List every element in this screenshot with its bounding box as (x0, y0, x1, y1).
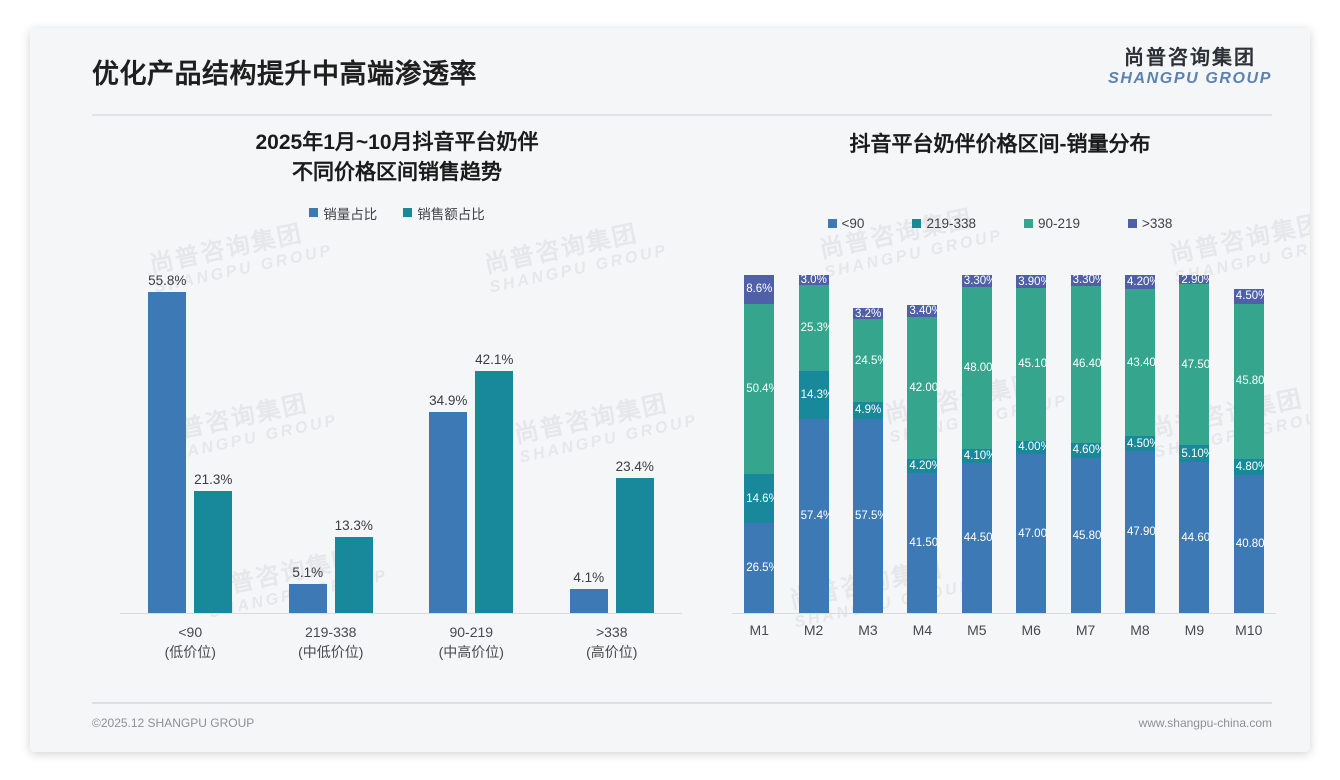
bar-group: 55.8%21.3% (120, 268, 261, 613)
category-name: >338 (537, 622, 687, 642)
footer-copyright: ©2025.12 SHANGPU GROUP (92, 716, 254, 730)
segment-value-label: 43.40% (1127, 357, 1155, 369)
bar-group: 4.1%23.4% (542, 268, 683, 613)
stacked-bar-column: 41.50%4.20%42.00%3.40% (907, 268, 937, 613)
stacked-bar-segment[interactable]: 44.50% (962, 463, 992, 613)
legend-item-volume-distribution[interactable]: 90-219 (1024, 216, 1080, 231)
stacked-bar-segment[interactable]: 44.60% (1179, 462, 1209, 613)
category-name: 90-219 (396, 622, 546, 642)
legend-swatch-icon (403, 208, 412, 217)
legend-label: >338 (1142, 216, 1172, 231)
segment-value-label: 45.80% (1236, 375, 1264, 387)
segment-value-label: 45.80% (1073, 530, 1101, 542)
stacked-bar-column: 57.5%4.9%24.5%3.2% (853, 268, 883, 613)
segment-value-label: 3.2% (855, 308, 881, 319)
stacked-bar-segment[interactable]: 14.6% (744, 474, 774, 523)
segment-value-label: 4.60% (1073, 444, 1101, 456)
bar-value-label: 42.1% (475, 352, 513, 367)
stacked-bar-segment[interactable]: 50.4% (744, 304, 774, 474)
stacked-bar-column: 40.80%4.80%45.80%4.50% (1234, 268, 1264, 613)
brand-logo: 尚普咨询集团 SHANGPU GROUP (1108, 48, 1272, 88)
legend-item-volume-distribution[interactable]: >338 (1128, 216, 1172, 231)
bar-value-label: 5.1% (292, 565, 323, 580)
bar-value-label: 4.1% (573, 570, 604, 585)
stacked-bar-segment[interactable]: 8.6% (744, 275, 774, 304)
category-sublabel: (高价位) (537, 642, 687, 662)
bar-rect[interactable] (194, 491, 232, 613)
segment-value-label: 4.20% (1127, 276, 1155, 288)
stacked-bar-segment[interactable]: 3.30% (1071, 275, 1101, 286)
chart-title-line-1: 2025年1月~10月抖音平台奶伴 (92, 128, 702, 158)
chart-legend-volume-distribution: <90219-33890-219>338 (720, 216, 1280, 231)
stacked-bar-segment[interactable]: 4.20% (907, 459, 937, 473)
brand-logo-cn: 尚普咨询集团 (1108, 48, 1272, 69)
segment-value-label: 47.00% (1018, 528, 1046, 540)
bar-rect[interactable] (148, 292, 186, 613)
chart-plot-area-sales-trend: 55.8%21.3%5.1%13.3%34.9%42.1%4.1%23.4% (120, 268, 682, 613)
slide-canvas: 尚普咨询集团 SHANGPU GROUP 尚普咨询集团 SHANGPU GROU… (30, 28, 1310, 752)
segment-value-label: 57.4% (801, 510, 829, 522)
segment-value-label: 47.90% (1127, 526, 1155, 538)
segment-value-label: 4.9% (855, 404, 881, 416)
footer-divider (92, 702, 1272, 704)
stacked-bar-column: 57.4%14.3%25.3%3.0% (799, 268, 829, 613)
stacked-bar-segment[interactable]: 24.5% (853, 319, 883, 402)
legend-swatch-icon (1128, 219, 1137, 228)
bar-rect[interactable] (429, 412, 467, 613)
legend-item-volume-distribution[interactable]: <90 (828, 216, 865, 231)
stacked-bar-segment[interactable]: 3.0% (799, 275, 829, 285)
stacked-bar-column: 47.00%4.00%45.10%3.90% (1016, 268, 1046, 613)
stacked-bar-segment[interactable]: 48.00% (962, 287, 992, 449)
bar-rect[interactable] (570, 589, 608, 613)
stacked-bar-segment[interactable]: 45.80% (1071, 458, 1101, 613)
chart-panel-volume-distribution: 抖音平台奶伴价格区间-销量分布 <90219-33890-219>338 26.… (720, 128, 1280, 688)
x-axis-month-label: M7 (1058, 622, 1114, 638)
legend-label: 销量占比 (323, 203, 377, 223)
header-divider (92, 114, 1272, 116)
category-name: <90 (115, 622, 265, 642)
stacked-bar-segment[interactable]: 3.2% (853, 308, 883, 319)
legend-item-volume-distribution[interactable]: 219-338 (912, 216, 976, 231)
chart-x-axis-line (120, 613, 682, 614)
segment-value-label: 8.6% (746, 283, 772, 295)
stacked-bar-segment[interactable]: 45.80% (1234, 304, 1264, 459)
segment-value-label: 3.40% (909, 305, 937, 316)
segment-value-label: 41.50% (909, 537, 937, 549)
category-name: 219-338 (256, 622, 406, 642)
segment-value-label: 4.80% (1236, 461, 1264, 473)
x-axis-month-label: M9 (1166, 622, 1222, 638)
stacked-bar-segment[interactable]: 3.30% (962, 275, 992, 286)
chart-legend-sales-trend: 销量占比销售额占比 (92, 203, 702, 223)
stacked-bar-column: 44.50%4.10%48.00%3.30% (962, 268, 992, 613)
bar-value-label: 13.3% (335, 518, 373, 533)
segment-value-label: 4.20% (909, 460, 937, 472)
bar-value-label: 21.3% (194, 472, 232, 487)
stacked-bar-segment[interactable]: 40.80% (1234, 475, 1264, 613)
stacked-bar-column: 26.5%14.6%50.4%8.6% (744, 268, 774, 613)
stacked-bar-segment[interactable]: 57.5% (853, 419, 883, 613)
stacked-bar-segment[interactable]: 43.40% (1125, 289, 1155, 436)
segment-value-label: 3.30% (964, 275, 992, 286)
bar-group: 5.1%13.3% (261, 268, 402, 613)
category-sublabel: (中高价位) (396, 642, 546, 662)
stacked-bar-segment[interactable]: 47.90% (1125, 451, 1155, 613)
stacked-bar-segment[interactable]: 5.10% (1179, 445, 1209, 462)
x-axis-month-label: M10 (1221, 622, 1277, 638)
segment-value-label: 46.40% (1073, 358, 1101, 370)
bar-value-label: 23.4% (616, 459, 654, 474)
x-axis-category-label: <90(低价位) (115, 622, 265, 663)
segment-value-label: 4.10% (964, 450, 992, 462)
segment-value-label: 48.00% (964, 362, 992, 374)
stacked-bar-segment[interactable]: 3.90% (1016, 275, 1046, 288)
stacked-bar-segment[interactable]: 42.00% (907, 317, 937, 459)
segment-value-label: 45.10% (1018, 358, 1046, 370)
stacked-bar-segment[interactable]: 46.40% (1071, 286, 1101, 443)
bar-value-label: 55.8% (148, 273, 186, 288)
category-sublabel: (低价位) (115, 642, 265, 662)
segment-value-label: 3.30% (1073, 275, 1101, 286)
segment-value-label: 5.10% (1181, 448, 1209, 460)
segment-value-label: 4.50% (1236, 290, 1264, 302)
stacked-bar-segment[interactable]: 4.00% (1016, 441, 1046, 455)
segment-value-label: 47.50% (1181, 359, 1209, 371)
legend-label: 销售额占比 (417, 203, 485, 223)
segment-value-label: 44.60% (1181, 532, 1209, 544)
bar-rect[interactable] (616, 478, 654, 613)
stacked-bar-column: 45.80%4.60%46.40%3.30% (1071, 268, 1101, 613)
stacked-bar-segment[interactable]: 45.10% (1016, 288, 1046, 440)
x-axis-month-label: M4 (894, 622, 950, 638)
x-axis-month-label: M2 (786, 622, 842, 638)
chart-title-line-2: 不同价格区间销售趋势 (92, 158, 702, 188)
stacked-bar-segment[interactable]: 4.80% (1234, 459, 1264, 475)
x-axis-category-label: 90-219(中高价位) (396, 622, 546, 663)
legend-item-sales-trend[interactable]: 销售额占比 (403, 203, 485, 223)
segment-value-label: 3.90% (1018, 276, 1046, 288)
x-axis-month-label: M8 (1112, 622, 1168, 638)
segment-value-label: 25.3% (801, 322, 829, 334)
segment-value-label: 24.5% (855, 355, 883, 367)
segment-value-label: 57.5% (855, 510, 883, 522)
bar-rect[interactable] (289, 584, 327, 613)
category-sublabel: (中低价位) (256, 642, 406, 662)
stacked-bar-segment[interactable]: 4.10% (962, 449, 992, 463)
segment-value-label: 26.5% (746, 562, 774, 574)
segment-value-label: 4.00% (1018, 441, 1046, 453)
brand-logo-en: SHANGPU GROUP (1108, 71, 1272, 88)
stacked-bar-column: 44.60%5.10%47.50%2.90% (1179, 268, 1209, 613)
stacked-bar-segment[interactable]: 4.20% (1125, 275, 1155, 289)
chart-panel-sales-trend: 2025年1月~10月抖音平台奶伴 不同价格区间销售趋势 销量占比销售额占比 5… (92, 128, 702, 688)
x-axis-month-label: M6 (1003, 622, 1059, 638)
footer-website: www.shangpu-china.com (1139, 716, 1272, 730)
segment-value-label: 2.90% (1181, 275, 1209, 285)
stacked-bar-segment[interactable]: 4.50% (1125, 436, 1155, 451)
x-axis-category-label: >338(高价位) (537, 622, 687, 663)
segment-value-label: 14.6% (746, 493, 774, 505)
stacked-bar-segment[interactable]: 4.50% (1234, 289, 1264, 304)
chart-title-sales-trend: 2025年1月~10月抖音平台奶伴 不同价格区间销售趋势 (92, 128, 702, 189)
bar-group: 34.9%42.1% (401, 268, 542, 613)
chart-title-volume-distribution: 抖音平台奶伴价格区间-销量分布 (720, 128, 1280, 160)
stacked-bar-segment[interactable]: 26.5% (744, 523, 774, 613)
segment-value-label: 50.4% (746, 383, 774, 395)
bar-rect[interactable] (335, 537, 373, 613)
bar-value-label: 34.9% (429, 393, 467, 408)
page-title: 优化产品结构提升中高端渗透率 (92, 52, 477, 91)
stacked-bar-segment[interactable]: 57.4% (799, 419, 829, 613)
segment-value-label: 4.50% (1127, 438, 1155, 450)
bar-rect[interactable] (475, 371, 513, 613)
stacked-bar-segment[interactable]: 2.90% (1179, 275, 1209, 285)
legend-label: 90-219 (1038, 216, 1080, 231)
stacked-bar-segment[interactable]: 14.3% (799, 371, 829, 419)
stacked-bar-segment[interactable]: 47.00% (1016, 454, 1046, 613)
segment-value-label: 40.80% (1236, 538, 1264, 550)
legend-item-sales-trend[interactable]: 销量占比 (309, 203, 377, 223)
x-axis-month-label: M5 (949, 622, 1005, 638)
segment-value-label: 14.3% (801, 389, 829, 401)
x-axis-month-label: M3 (840, 622, 896, 638)
slide-header: 优化产品结构提升中高端渗透率 尚普咨询集团 SHANGPU GROUP (30, 28, 1310, 116)
stacked-bar-segment[interactable]: 3.40% (907, 305, 937, 316)
stacked-bar-segment[interactable]: 41.50% (907, 473, 937, 613)
stacked-bar-segment[interactable]: 47.50% (1179, 284, 1209, 445)
stacked-bar-segment[interactable]: 4.9% (853, 402, 883, 419)
stacked-bar-segment[interactable]: 4.60% (1071, 443, 1101, 459)
chart-x-axis-line (732, 613, 1276, 614)
legend-label: <90 (842, 216, 865, 231)
stacked-bar-segment[interactable]: 25.3% (799, 285, 829, 371)
legend-swatch-icon (912, 219, 921, 228)
chart-plot-area-volume-distribution: 26.5%14.6%50.4%8.6%57.4%14.3%25.3%3.0%57… (732, 268, 1276, 613)
x-axis-month-label: M1 (731, 622, 787, 638)
segment-value-label: 42.00% (909, 382, 937, 394)
legend-swatch-icon (828, 219, 837, 228)
legend-swatch-icon (309, 208, 318, 217)
legend-swatch-icon (1024, 219, 1033, 228)
legend-label: 219-338 (926, 216, 976, 231)
segment-value-label: 44.50% (964, 532, 992, 544)
segment-value-label: 3.0% (801, 275, 827, 285)
stacked-bar-column: 47.90%4.50%43.40%4.20% (1125, 268, 1155, 613)
x-axis-category-label: 219-338(中低价位) (256, 622, 406, 663)
